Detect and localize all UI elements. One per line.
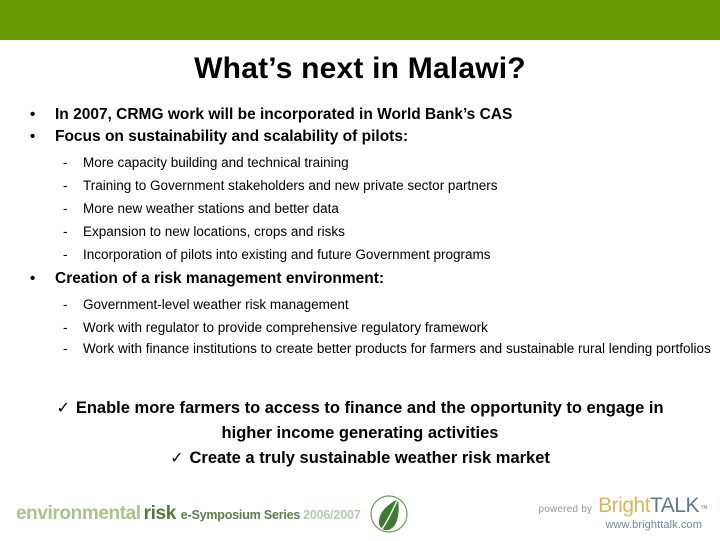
bullet-level1-text: Focus on sustainability and scalability …: [55, 128, 408, 145]
sub-bullet-group: - More capacity building and technical t…: [0, 151, 720, 266]
bullet-level1-text: Creation of a risk management environmen…: [55, 270, 384, 287]
bullet-level2-text: More new weather stations and better dat…: [83, 201, 339, 216]
bullet-level2: - Work with regulator to provide compreh…: [0, 316, 720, 339]
checkmark-icon: ✓: [170, 450, 189, 467]
brighttalk-word-bright: Bright: [598, 494, 650, 518]
brighttalk-logo: powered byBrightTALK™ www.brighttalk.com: [538, 494, 708, 531]
bullet-level2-text: Work with finance institutions to create…: [83, 341, 711, 356]
slide-canvas: What’s next in Malawi? • In 2007, CRMG w…: [0, 0, 720, 540]
bullet-level2-text: Training to Government stakeholders and …: [83, 178, 497, 193]
leaf-icon: [367, 492, 411, 536]
dash-marker-icon: -: [63, 151, 68, 174]
dash-marker-icon: -: [63, 316, 68, 339]
dash-marker-icon: -: [63, 243, 68, 266]
bullet-level2-text: More capacity building and technical tra…: [83, 155, 349, 170]
bullet-level2: - Incorporation of pilots into existing …: [0, 243, 720, 266]
checkmark-icon: ✓: [56, 400, 75, 417]
bullet-level2: - Expansion to new locations, crops and …: [0, 220, 720, 243]
bullet-level2: - Training to Government stakeholders an…: [0, 174, 720, 197]
trademark-icon: ™: [699, 504, 708, 513]
brighttalk-word-talk: TALK: [650, 494, 699, 518]
powered-by-label: powered by: [538, 504, 598, 515]
er-word-risk: risk: [141, 503, 176, 524]
er-logo-line1: environmentalrisk: [16, 503, 181, 524]
er-word-environmental: environmental: [16, 503, 141, 524]
brighttalk-wordmark-row: powered byBrightTALK™: [538, 494, 708, 518]
er-logo-line2: e-Symposium Series2006/2007: [181, 508, 361, 522]
bullet-level2: - Government-level weather risk manageme…: [0, 293, 720, 316]
conclusion-text: Enable more farmers to access to finance…: [76, 399, 664, 442]
dash-marker-icon: -: [63, 339, 68, 358]
bullet-level2-text: Government-level weather risk management: [83, 297, 349, 312]
conclusion-line: ✓Enable more farmers to access to financ…: [0, 396, 720, 446]
er-series-text: e-Symposium Series: [181, 508, 300, 522]
environmental-risk-logo: environmentalrisk e-Symposium Series2006…: [16, 492, 411, 536]
slide-footer: environmentalrisk e-Symposium Series2006…: [0, 488, 720, 540]
bullet-level2-text: Work with regulator to provide comprehen…: [83, 320, 488, 335]
conclusion-line: ✓Create a truly sustainable weather risk…: [0, 446, 720, 471]
environmental-risk-wordmark: environmentalrisk e-Symposium Series2006…: [16, 504, 360, 524]
bullet-dot-icon: •: [30, 104, 35, 125]
conclusion-block: ✓Enable more farmers to access to financ…: [0, 396, 720, 471]
bullet-level2: - Work with finance institutions to crea…: [0, 339, 720, 360]
slide-title: What’s next in Malawi?: [0, 52, 720, 86]
bullet-dot-icon: •: [30, 126, 35, 147]
dash-marker-icon: -: [63, 174, 68, 197]
dash-marker-icon: -: [63, 220, 68, 243]
bullet-level1-text: In 2007, CRMG work will be incorporated …: [55, 106, 512, 123]
bullet-level2: - More capacity building and technical t…: [0, 151, 720, 174]
bullet-dot-icon: •: [30, 268, 35, 289]
er-years-text: 2006/2007: [300, 508, 360, 522]
bullet-level1: • Creation of a risk management environm…: [0, 268, 720, 289]
top-green-band: [0, 0, 720, 40]
bullet-level1: • In 2007, CRMG work will be incorporate…: [0, 104, 720, 125]
sub-bullet-group: - Government-level weather risk manageme…: [0, 293, 720, 360]
conclusion-text: Create a truly sustainable weather risk …: [189, 449, 549, 467]
bullet-level2-text: Expansion to new locations, crops and ri…: [83, 224, 345, 239]
dash-marker-icon: -: [63, 293, 68, 316]
dash-marker-icon: -: [63, 197, 68, 220]
bullet-level1: • Focus on sustainability and scalabilit…: [0, 126, 720, 147]
slide-body: • In 2007, CRMG work will be incorporate…: [0, 104, 720, 362]
brighttalk-url: www.brighttalk.com: [538, 519, 708, 531]
bullet-level2: - More new weather stations and better d…: [0, 197, 720, 220]
bullet-level2-text: Incorporation of pilots into existing an…: [83, 247, 490, 262]
